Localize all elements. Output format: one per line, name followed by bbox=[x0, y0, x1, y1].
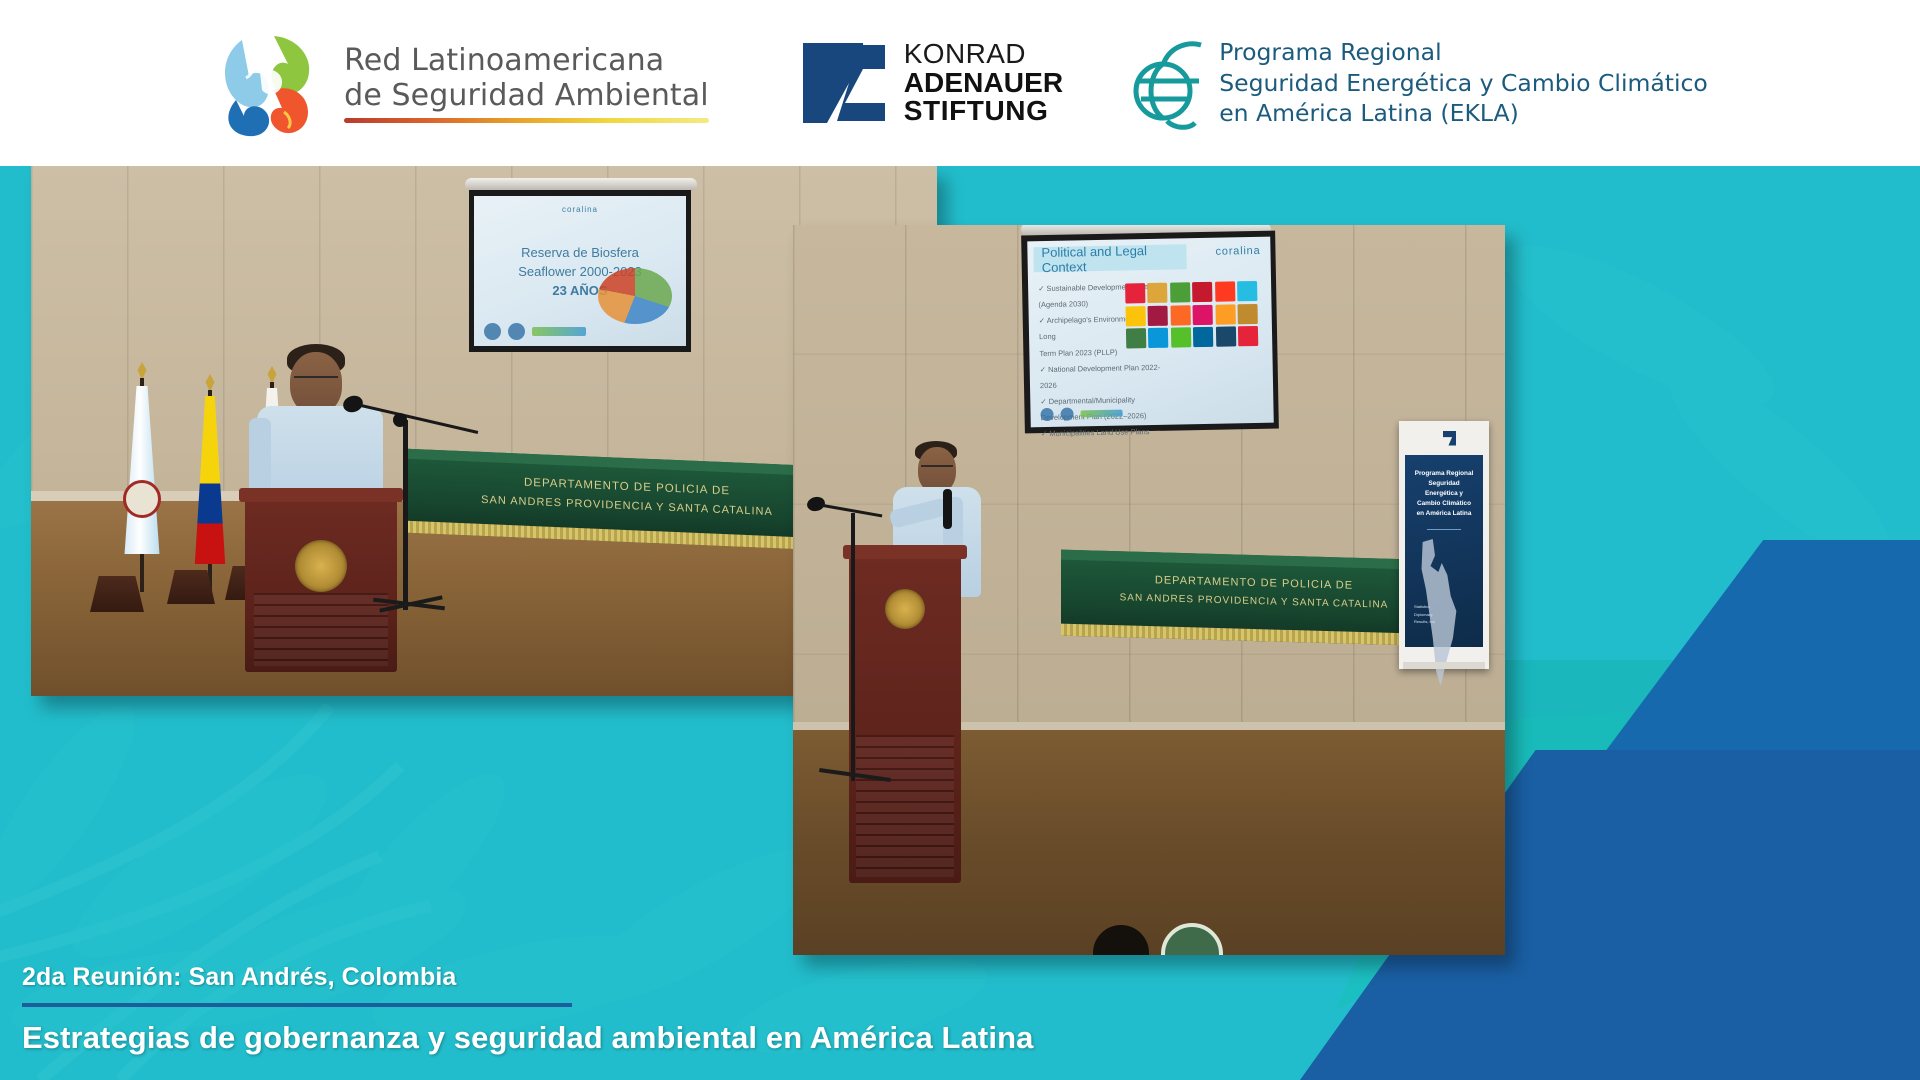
slide-a-pie-chart bbox=[598, 268, 672, 324]
slide-a-brand: coralina bbox=[562, 205, 598, 214]
sdg-tile-6 bbox=[1237, 281, 1257, 301]
redlat-wordmark: Red Latinoamericana de Seguridad Ambient… bbox=[344, 43, 709, 124]
redlat-line1: Red Latinoamericana bbox=[344, 43, 709, 78]
banner-kas-logo-icon bbox=[1443, 429, 1481, 447]
sdg-tile-14 bbox=[1148, 328, 1168, 348]
projector-screen-b: Political and Legal Context coralina ✓ S… bbox=[1027, 237, 1274, 428]
caption-block: 2da Reunión: San Andrés, Colombia Estrat… bbox=[22, 963, 1202, 1056]
redlat-logo: Red Latinoamericana de Seguridad Ambient… bbox=[212, 24, 709, 142]
sdg-tile-2 bbox=[1147, 283, 1167, 303]
slide-b-logo-row bbox=[1040, 407, 1122, 422]
banner-inner: Programa Regional Seguridad Energética y… bbox=[1405, 455, 1483, 647]
banner-title: Programa Regional Seguridad Energética y… bbox=[1413, 469, 1475, 519]
sdg-icon-grid bbox=[1125, 281, 1259, 349]
logo-group: Red Latinoamericana de Seguridad Ambient… bbox=[212, 24, 1708, 142]
slide-a-logo-1 bbox=[484, 323, 501, 340]
slide-canvas: coralina Reserva de Biosfera Seaflower 2… bbox=[0, 166, 1920, 1080]
banner-legend-2: Results, too bbox=[1414, 618, 1435, 625]
green-table-b: DEPARTAMENTO DE POLICIA DE SAN ANDRES PR… bbox=[1061, 550, 1447, 647]
ekla-globe-logo-icon bbox=[1133, 35, 1205, 131]
flag-san-andres bbox=[109, 362, 175, 592]
sdg-tile-10 bbox=[1192, 304, 1212, 324]
header-logo-bar: Red Latinoamericana de Seguridad Ambient… bbox=[0, 0, 1920, 166]
ekla-line3: en América Latina (EKLA) bbox=[1219, 98, 1708, 129]
slide-b-logo-3 bbox=[1080, 410, 1122, 418]
sdg-tile-4 bbox=[1192, 282, 1212, 302]
sdg-tile-7 bbox=[1125, 306, 1145, 326]
microphone-stand-a bbox=[403, 420, 408, 610]
slide-b-logo-2 bbox=[1060, 407, 1073, 420]
caption-divider bbox=[22, 1003, 572, 1007]
sdg-tile-16 bbox=[1193, 327, 1213, 347]
kas-wordmark: KONRAD ADENAUER STIFTUNG bbox=[904, 40, 1063, 126]
sdg-tile-11 bbox=[1215, 304, 1235, 324]
mic-clamp-a bbox=[393, 413, 407, 427]
slide-b-bullet-4: ✓ National Development Plan 2022- bbox=[1040, 359, 1162, 377]
ekla-line2: Seguridad Energética y Cambio Climático bbox=[1219, 68, 1708, 99]
redlat-underline bbox=[344, 118, 709, 123]
slide-b-brand: coralina bbox=[1215, 245, 1260, 258]
redlat-line2: de Seguridad Ambiental bbox=[344, 78, 709, 113]
caption-subtitle: 2da Reunión: San Andrés, Colombia bbox=[22, 963, 1202, 992]
slide-a-logo-2 bbox=[508, 323, 525, 340]
sdg-tile-18 bbox=[1238, 326, 1258, 346]
kas-line2: ADENAUER bbox=[904, 69, 1063, 98]
sdg-tile-3 bbox=[1170, 282, 1190, 302]
sdg-tile-5 bbox=[1215, 281, 1235, 301]
ekla-wordmark: Programa Regional Seguridad Energética y… bbox=[1219, 37, 1708, 129]
banner-legend: Statistics Diplomacy Results, too bbox=[1414, 603, 1435, 625]
podium-emblem-b bbox=[885, 589, 925, 629]
banner-base bbox=[1403, 662, 1485, 669]
photo-speaker-with-microphone: Political and Legal Context coralina ✓ S… bbox=[793, 225, 1505, 955]
ekla-line1: Programa Regional bbox=[1219, 37, 1708, 68]
banner-legend-1: Diplomacy bbox=[1414, 611, 1435, 618]
slide-a-logo-3 bbox=[532, 327, 586, 336]
projector-screen-a: coralina Reserva de Biosfera Seaflower 2… bbox=[474, 196, 686, 346]
caption-title: Estrategias de gobernanza y seguridad am… bbox=[22, 1020, 1202, 1056]
kas-line3: STIFTUNG bbox=[904, 97, 1063, 126]
slide-b-logo-1 bbox=[1040, 408, 1053, 421]
redlat-leaf-logo-icon bbox=[212, 24, 330, 142]
flag-colombia bbox=[183, 374, 237, 592]
kas-logo: KONRAD ADENAUER STIFTUNG bbox=[801, 40, 1063, 126]
sdg-tile-8 bbox=[1147, 305, 1167, 325]
podium-b bbox=[849, 553, 961, 883]
handheld-microphone-b bbox=[943, 489, 952, 529]
slide-a-line1: Reserva de Biosfera bbox=[521, 244, 639, 263]
slide-b-title: Political and Legal Context bbox=[1033, 244, 1187, 272]
slide-a-logo-row bbox=[484, 323, 586, 340]
podium-emblem-a bbox=[295, 540, 347, 592]
sdg-tile-17 bbox=[1215, 326, 1235, 346]
sdg-tile-12 bbox=[1237, 303, 1257, 323]
ekla-logo: Programa Regional Seguridad Energética y… bbox=[1133, 35, 1708, 131]
microphone-stand-b bbox=[851, 513, 855, 781]
sdg-tile-1 bbox=[1125, 283, 1145, 303]
konrad-adenauer-stiftung-logo-icon bbox=[801, 41, 887, 125]
ekla-rollup-banner: Programa Regional Seguridad Energética y… bbox=[1399, 421, 1489, 669]
sdg-tile-15 bbox=[1170, 327, 1190, 347]
sdg-tile-13 bbox=[1125, 328, 1145, 348]
banner-legend-0: Statistics bbox=[1414, 603, 1435, 610]
sdg-tile-9 bbox=[1170, 305, 1190, 325]
kas-line1: KONRAD bbox=[904, 40, 1063, 69]
slide-b-bullet-8: ✓ Municipalities Land Use Plans bbox=[1041, 424, 1163, 442]
podium-a bbox=[245, 496, 397, 672]
